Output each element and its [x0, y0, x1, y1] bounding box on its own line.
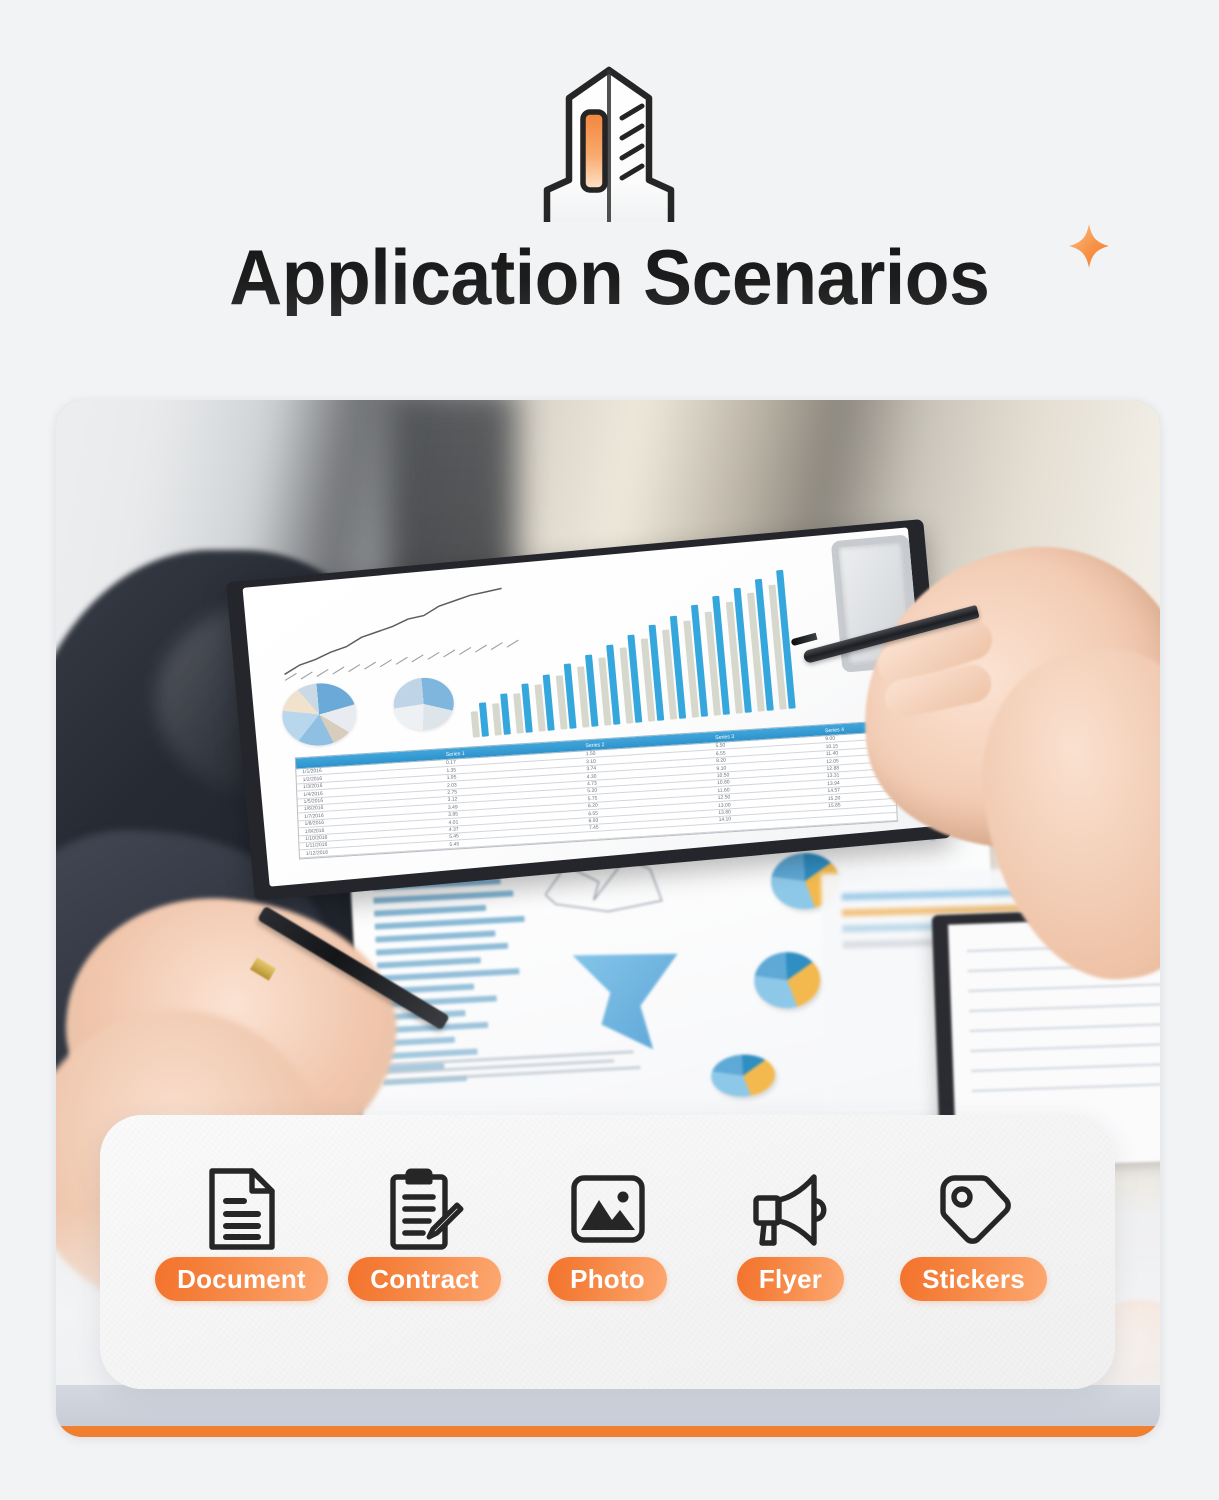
table-cell: 13.94	[827, 780, 840, 787]
bar	[492, 703, 502, 736]
table-cell: 15.85	[828, 802, 841, 809]
table-cell: 0.17	[446, 760, 456, 767]
table-cell: 14.57	[827, 787, 840, 794]
bar	[373, 890, 513, 903]
table-cell: 13.00	[718, 802, 731, 809]
bar	[381, 1048, 477, 1059]
primary-clipboard: Series 1Series 2Series 3Series 4 1/1/201…	[226, 519, 952, 901]
bar	[377, 968, 519, 981]
table-cell: 10.80	[717, 780, 730, 787]
table-cell: 1.50	[586, 751, 596, 758]
table-cell: 15.20	[828, 795, 841, 802]
sparkle-icon	[1067, 222, 1111, 270]
table-cell: 6.93	[588, 818, 598, 825]
category-label-flyer[interactable]: Flyer	[737, 1257, 844, 1301]
clipboard-pie-chart	[280, 680, 359, 748]
table-cell: 12.88	[826, 765, 839, 772]
table-cell: 5.20	[587, 788, 597, 795]
table-cell: 1/5/2016	[303, 798, 323, 805]
table-cell: 2.75	[447, 789, 457, 796]
page-root: Application Scenarios	[0, 0, 1219, 1500]
category-card: Document Contract Photo Flyer Stickers	[100, 1115, 1115, 1389]
bar	[479, 703, 489, 737]
category-label-stickers[interactable]: Stickers	[900, 1257, 1047, 1301]
table-cell: 5.45	[449, 834, 459, 841]
document-funnel-chart	[573, 950, 683, 1053]
table-header-cell: Series 2	[585, 742, 604, 749]
document-pie-chart	[710, 1053, 776, 1098]
table-cell: 4.01	[448, 819, 458, 826]
page-header: Application Scenarios	[0, 0, 1219, 390]
table-cell: 13.80	[718, 809, 731, 816]
table-cell: 6.55	[588, 810, 598, 817]
price-tag-icon	[934, 1170, 1014, 1248]
category-item-contract[interactable]: Contract	[333, 1170, 516, 1301]
table-cell: 2.03	[447, 782, 457, 789]
table-cell: 3.10	[586, 758, 596, 765]
table-cell: 9.10	[716, 765, 726, 772]
table-cell: 11.40	[826, 751, 838, 758]
clipboard-data-table: Series 1Series 2Series 3Series 4 1/1/201…	[295, 720, 898, 862]
clipboard-bar-chart	[459, 548, 802, 737]
table-cell: 3.74	[586, 766, 596, 773]
table-cell: 10.15	[826, 743, 839, 750]
table-cell: 5.75	[588, 795, 598, 802]
table-cell: 4.30	[587, 773, 597, 780]
table-cell: 10.50	[717, 772, 730, 779]
table-cell: 1/12/2016	[306, 849, 328, 856]
table-cell: 14.10	[719, 817, 732, 824]
table-cell: 4.73	[587, 781, 597, 788]
megaphone-icon	[748, 1170, 834, 1248]
bar	[500, 694, 511, 735]
table-cell: 12.05	[826, 758, 839, 765]
table-cell: 6.20	[588, 803, 598, 810]
table-cell: 3.12	[448, 797, 458, 804]
document-pie-chart	[753, 950, 822, 1009]
category-item-flyer[interactable]: Flyer	[699, 1170, 882, 1301]
table-cell: 4.37	[449, 826, 459, 833]
category-item-document[interactable]: Document	[150, 1170, 333, 1301]
category-label-photo[interactable]: Photo	[548, 1257, 667, 1301]
bar	[376, 943, 508, 956]
table-cell: 7.45	[589, 825, 599, 832]
category-item-stickers[interactable]: Stickers	[882, 1170, 1065, 1301]
table-cell: 9.00	[825, 736, 835, 743]
table-cell: 13.31	[827, 773, 840, 780]
table-cell: 3.49	[448, 804, 458, 811]
document-icon	[204, 1170, 280, 1248]
table-header-cell: Series 4	[825, 726, 844, 733]
table-cell: 1.35	[446, 767, 456, 774]
bar	[377, 957, 481, 968]
image-icon	[568, 1170, 648, 1248]
table-cell: 6.55	[716, 750, 726, 757]
bar	[471, 711, 480, 738]
page-title-row: Application Scenarios	[0, 238, 1219, 316]
table-header-cell: Series 3	[715, 733, 734, 740]
table-cell: 11.60	[717, 787, 729, 794]
table-cell: 12.50	[718, 794, 731, 801]
category-label-document[interactable]: Document	[155, 1257, 328, 1301]
table-cell: 8.20	[716, 758, 726, 765]
category-item-photo[interactable]: Photo	[516, 1170, 699, 1301]
category-label-contract[interactable]: Contract	[348, 1257, 501, 1301]
bar	[374, 905, 486, 917]
bar	[375, 930, 495, 942]
bar	[375, 916, 525, 930]
panel-bottom-accent	[56, 1385, 1160, 1437]
table-cell: 5.50	[715, 743, 725, 750]
table-header-cell: Series 1	[446, 750, 465, 757]
clipboard-report-page: Series 1Series 2Series 3Series 4 1/1/201…	[243, 527, 935, 886]
clipboard-pie-chart	[392, 675, 456, 732]
table-cell: 1.95	[447, 775, 457, 782]
table-cell: 3.85	[448, 812, 458, 819]
category-list: Document Contract Photo Flyer Stickers	[100, 1170, 1115, 1301]
clipboard-pencil-icon	[385, 1170, 465, 1248]
building-tower-icon	[503, 62, 717, 252]
table-cell: 5.45	[449, 841, 459, 848]
page-title: Application Scenarios	[229, 238, 989, 316]
